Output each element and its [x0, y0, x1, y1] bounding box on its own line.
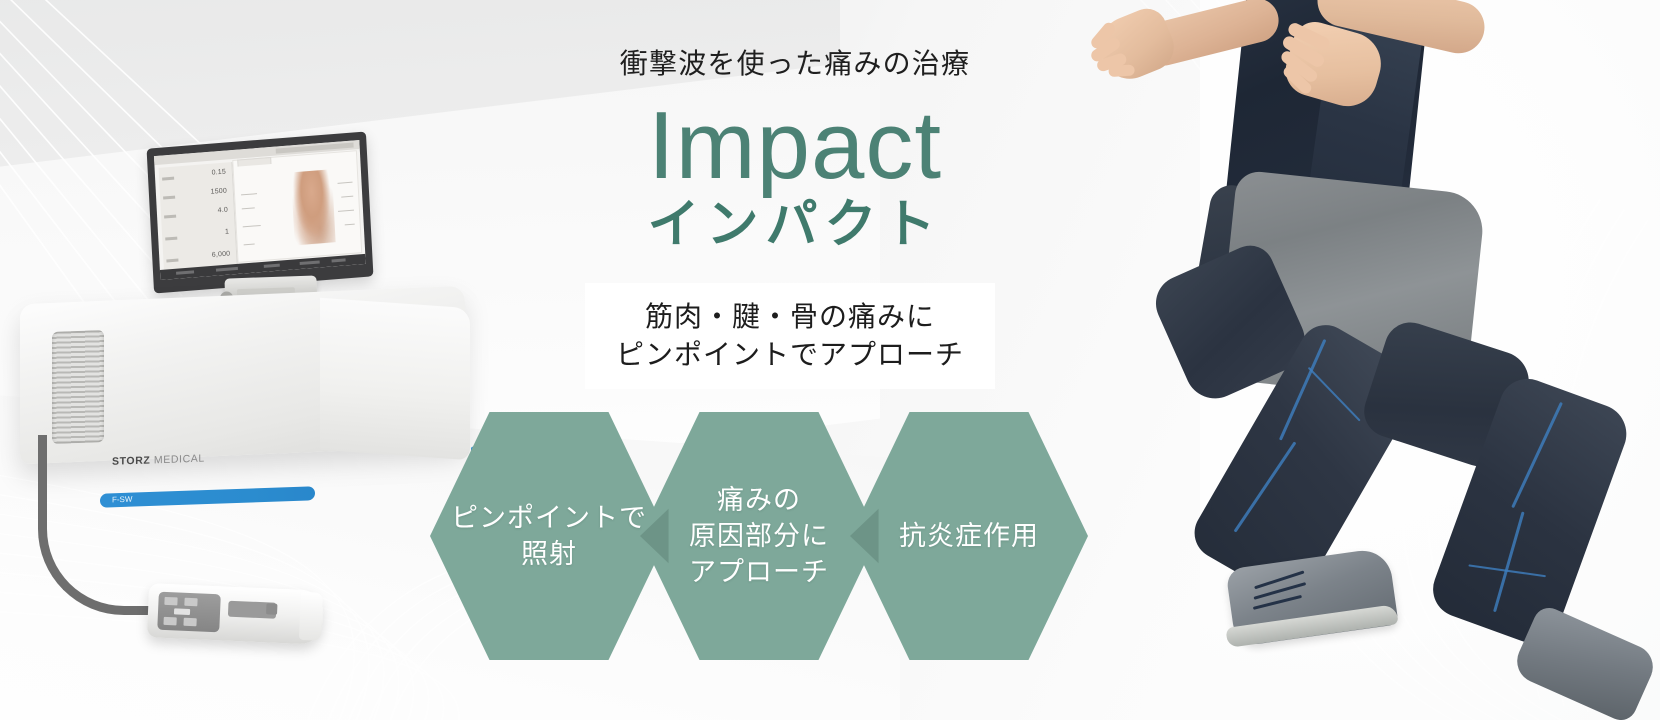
feature-hexagon-3-label: 抗炎症作用	[899, 518, 1039, 554]
lead-message-box: 筋肉・腱・骨の痛みに ピンポイントでアプローチ	[585, 283, 995, 389]
runner-back-shoe	[1510, 603, 1660, 720]
feature-hexagon-2[interactable]: 痛みの 原因部分に アプローチ	[640, 412, 878, 660]
lead-line-2: ピンポイントでアプローチ	[616, 338, 964, 372]
feature-hexagon-1[interactable]: ピンポイントで 照射	[430, 412, 668, 660]
lead-line-1: 筋肉・腱・骨の痛みに	[645, 300, 935, 334]
banner-copy: 衝撃波を使った痛みの治療 Impact インパクト 筋肉・腱・骨の痛みに ピンポ…	[0, 0, 1035, 720]
feature-hexagon-1-label: ピンポイントで 照射	[451, 500, 647, 572]
feature-hexagon-row: ピンポイントで 照射 痛みの 原因部分に アプローチ 抗炎症作用	[430, 412, 1180, 672]
runner-left-hand	[1091, 3, 1181, 87]
hero-banner: 0.15 1500 4.0 1 6,000	[0, 0, 1660, 720]
feature-hexagon-3[interactable]: 抗炎症作用	[850, 412, 1088, 660]
feature-hexagon-2-label: 痛みの 原因部分に アプローチ	[689, 482, 829, 591]
banner-kicker: 衝撃波を使った痛みの治療	[600, 42, 990, 82]
feature-1-line-1: ピンポイントで	[451, 500, 647, 536]
feature-2-line-1: 痛みの	[689, 482, 829, 518]
feature-3-line-1: 抗炎症作用	[899, 518, 1039, 554]
product-name-ja: インパクト	[560, 200, 1030, 252]
product-name-en: Impact	[560, 98, 1030, 194]
feature-2-line-3: アプローチ	[689, 554, 829, 590]
feature-1-line-2: 照射	[451, 536, 647, 572]
feature-2-line-2: 原因部分に	[689, 518, 829, 554]
